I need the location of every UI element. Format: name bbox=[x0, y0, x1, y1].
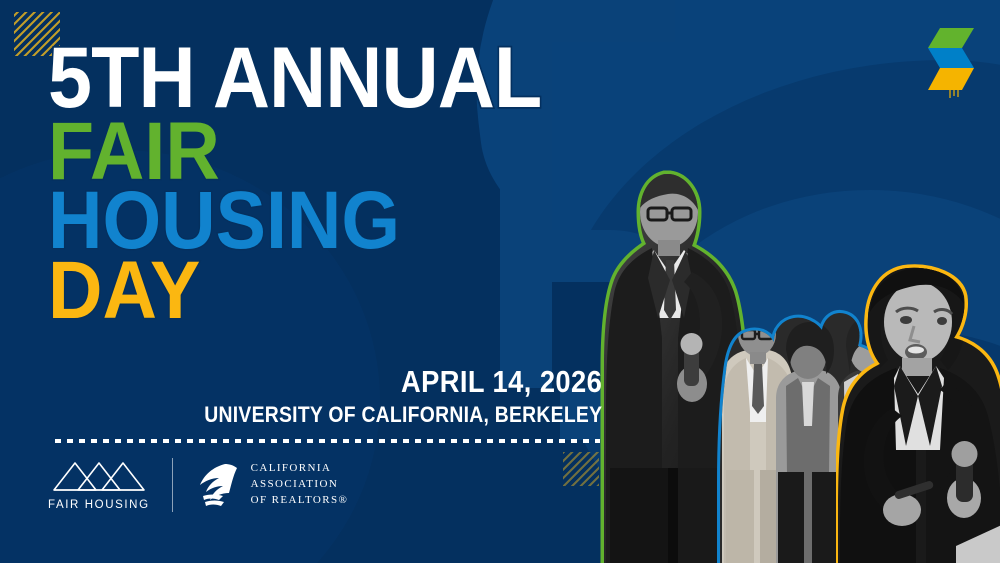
car-line-3: OF REALTORS® bbox=[251, 493, 349, 509]
event-date: APRIL 14, 2026 bbox=[204, 366, 602, 397]
chevron-yellow-icon bbox=[928, 68, 974, 90]
headline-block: 5TH ANNUAL FAIR HOUSING DAY bbox=[48, 44, 584, 324]
three-peaks-icon bbox=[51, 459, 147, 493]
fair-housing-logo: FAIR HOUSING bbox=[48, 459, 150, 511]
car-line-2: ASSOCIATION bbox=[251, 477, 349, 493]
event-details: APRIL 14, 2026 UNIVERSITY OF CALIFORNIA,… bbox=[150, 366, 602, 426]
dashed-divider bbox=[55, 439, 600, 443]
chevron-ribbon-logo bbox=[926, 26, 978, 98]
logo-divider bbox=[172, 458, 173, 512]
headline-line-day: DAY bbox=[48, 258, 584, 324]
headline-line-annual: 5TH ANNUAL bbox=[48, 44, 584, 113]
fair-housing-day-poster: 5TH ANNUAL FAIR HOUSING DAY APRIL 14, 20… bbox=[0, 0, 1000, 563]
car-line-1: CALIFORNIA bbox=[251, 461, 349, 477]
logo-row: FAIR HOUSING CALIFORNIA ASSOCIATION OF R… bbox=[48, 458, 348, 512]
california-association-of-realtors-logo: CALIFORNIA ASSOCIATION OF REALTORS® bbox=[195, 461, 349, 509]
car-logo-text: CALIFORNIA ASSOCIATION OF REALTORS® bbox=[251, 461, 349, 509]
photo-woman-with-microphone bbox=[836, 260, 1000, 563]
car-eagle-icon bbox=[195, 462, 241, 508]
fair-housing-label: FAIR HOUSING bbox=[48, 499, 150, 511]
chevron-green-icon bbox=[928, 28, 974, 48]
chevron-blue-icon bbox=[928, 48, 974, 68]
event-location: UNIVERSITY OF CALIFORNIA, BERKELEY bbox=[204, 404, 602, 426]
headline-5th-annual: 5TH ANNUAL bbox=[48, 44, 541, 113]
headline-day: DAY bbox=[48, 258, 541, 324]
